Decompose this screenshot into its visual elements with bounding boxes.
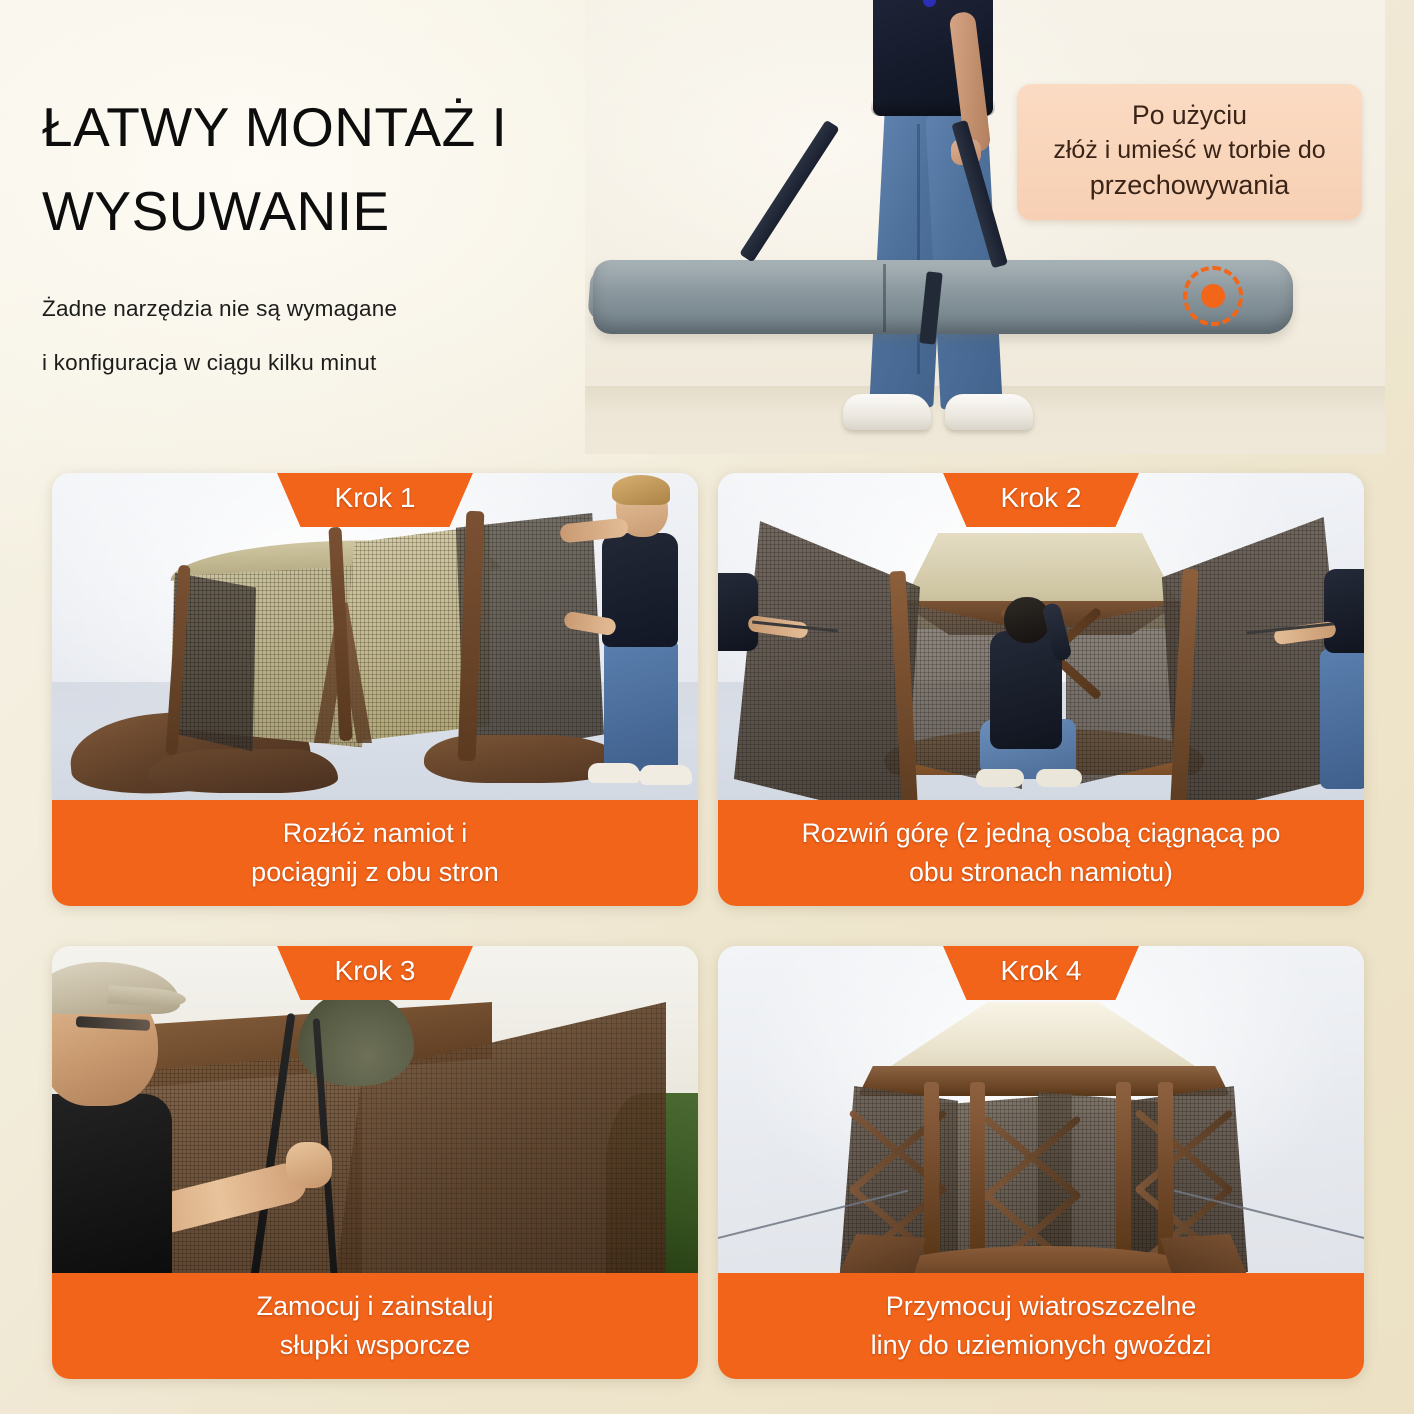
step-2-person-shoe-left [976, 769, 1024, 787]
step-1-caption: Rozłóż namiot i pociągnij z obu stron [52, 800, 698, 906]
step-2-helper-right-leg [1320, 649, 1364, 789]
step-3-caption: Zamocuj i zainstaluj słupki wsporcze [52, 1273, 698, 1379]
page-title: ŁATWY MONTAŻ I WYSUWANIE [42, 86, 662, 253]
step-3-caption-line-2: słupki wsporcze [280, 1326, 471, 1365]
step-card-3[interactable]: JANLE Krok 3 Zamocuj i zainstaluj słupki… [52, 946, 698, 1379]
hero-section: ŁATWY MONTAŻ I WYSUWANIE Żadne narzędzia… [0, 0, 1414, 470]
callout-line-3: przechowywania [1031, 167, 1348, 203]
step-1-person-shoe-right [640, 765, 692, 785]
step-3-tab: Krok 3 [277, 946, 473, 1000]
step-4-caption-line-1: Przymocuj wiatroszczelne [886, 1287, 1197, 1326]
step-2-helper-left [718, 573, 758, 651]
step-1-person-shoe-left [588, 763, 640, 783]
step-1-person-hair [612, 475, 670, 505]
step-card-4[interactable]: VEVOR [718, 946, 1364, 1379]
step-4-tab: Krok 4 [943, 946, 1139, 1000]
step-4-caption-line-2: liny do uziemionych gwoździ [871, 1326, 1212, 1365]
gazebo-post-2 [970, 1082, 985, 1273]
gazebo-post-1 [924, 1082, 939, 1273]
step-2-person-shoe-right [1036, 769, 1082, 787]
callout-line-1: Po użyciu [1031, 98, 1348, 134]
hero-subtitle-line-1: Żadne narzędzia nie są wymagane [42, 296, 397, 322]
gazebo-eave [858, 1066, 1230, 1096]
hero-photo-person-with-bag [585, 0, 1385, 454]
step-4-caption: Przymocuj wiatroszczelne liny do uziemio… [718, 1273, 1364, 1379]
person-shoe-right [945, 394, 1033, 430]
step-3-person-torso: JANLE [52, 1094, 172, 1273]
gazebo-post-3 [1116, 1082, 1131, 1273]
step-card-1[interactable]: Krok 1 Rozłóż namiot i pociągnij z obu s… [52, 473, 698, 906]
tent-fabric-pile-2 [148, 749, 338, 793]
step-1-tab: Krok 1 [277, 473, 473, 527]
vevor-target-circle-icon [1183, 266, 1243, 326]
step-card-2[interactable]: Krok 2 Rozwiń górę (z jedną osobą ciągną… [718, 473, 1364, 906]
step-2-helper-right [1324, 569, 1364, 653]
step-2-tab: Krok 2 [943, 473, 1139, 527]
step-1-caption-line-2: pociągnij z obu stron [251, 853, 499, 892]
step-1-person-legs [604, 639, 678, 771]
step-3-person-hand [286, 1142, 332, 1188]
carry-bag-seam [883, 264, 886, 332]
hero-subtitle-line-2: i konfiguracja w ciągu kilku minut [42, 350, 376, 376]
person-shoe-left [843, 394, 931, 430]
step-2-person-head [1004, 597, 1050, 643]
steps-grid: Krok 1 Rozłóż namiot i pociągnij z obu s… [52, 473, 1364, 1379]
storage-callout-box: Po użyciu złóż i umieść w torbie do prze… [1017, 84, 1362, 220]
step-2-caption: Rozwiń górę (z jedną osobą ciągnącą po o… [718, 800, 1364, 906]
step-2-caption-line-1: Rozwiń górę (z jedną osobą ciągnącą po [802, 814, 1281, 853]
step-3-caption-line-1: Zamocuj i zainstaluj [256, 1287, 493, 1326]
callout-line-2: złóż i umieść w torbie do [1031, 134, 1348, 168]
step-2-caption-line-2: obu stronach namiotu) [909, 853, 1173, 892]
step-1-caption-line-1: Rozłóż namiot i [283, 814, 468, 853]
